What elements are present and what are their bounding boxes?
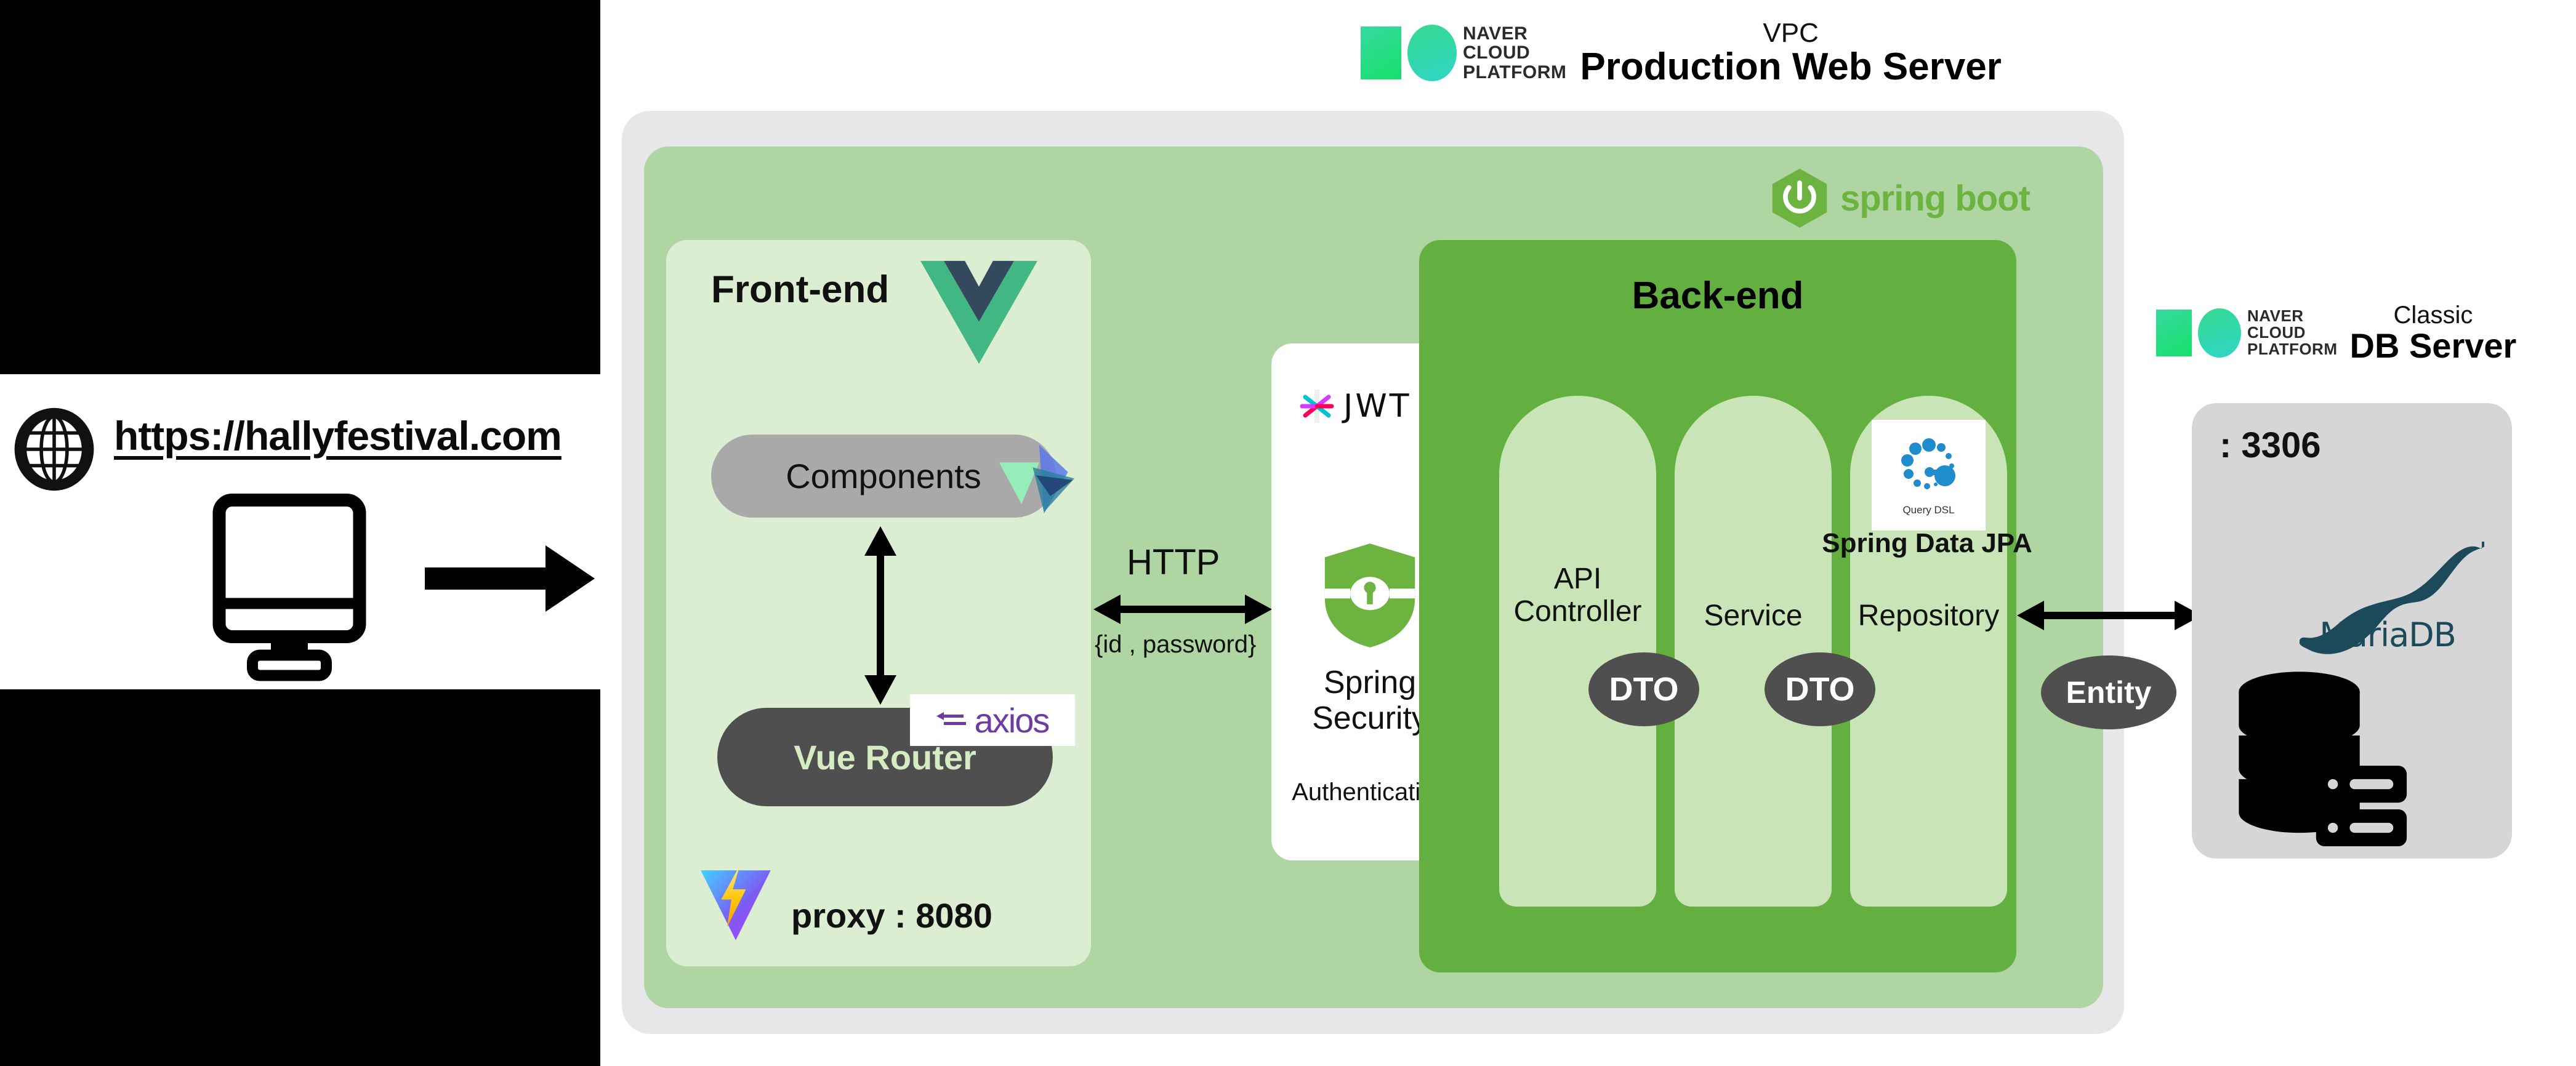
naver-cloud-platform-logo-db: NAVER CLOUD PLATFORM [2156,308,2338,358]
web-server-kind: VPC [1763,20,1818,47]
db-server-title: DB Server [2350,328,2517,363]
http-bidirectional-arrow-icon [1093,585,1272,634]
querydsl-caption: Query DSL [1902,504,1954,516]
db-server-header: NAVER CLOUD PLATFORM Classic DB Server [2156,303,2516,363]
frontend-title: Front-end [711,268,889,311]
ncp-oval-icon [1407,25,1457,81]
components-label: Components [786,456,981,496]
dto-badge-controller-service: DTO [1588,652,1699,726]
vite-logo [699,862,773,942]
ncp-oval-icon [2198,308,2241,358]
ncp-brand-cloud: CLOUD [1463,43,1566,62]
ncp-brand-platform: PLATFORM [2247,341,2338,358]
querydsl-logo: Query DSL [1872,420,1986,531]
ncp-brand-platform: PLATFORM [1463,63,1566,82]
entity-label: Entity [2066,675,2152,710]
api-controller-label: API Controller [1499,563,1656,628]
web-server-header: NAVER CLOUD PLATFORM VPC Production Web … [1361,20,2002,86]
querydsl-mark-icon [1895,434,1963,502]
entity-bidirectional-arrow-icon [2017,591,2202,640]
entity-badge: Entity [2041,655,2176,729]
vuetify-logo [994,440,1074,520]
mariadb-label: MariaDB [2289,615,2486,654]
ncp-brand-naver: NAVER [1463,24,1566,43]
http-label: HTTP [1127,542,1220,583]
dto-label: DTO [1609,670,1678,708]
http-payload-label: {id , password} [1095,631,1256,659]
dto-badge-service-repository: DTO [1765,652,1875,726]
spring-boot-icon [1770,167,1829,229]
backend-title: Back-end [1419,274,2016,318]
service-column [1675,396,1832,907]
repository-label: Repository [1850,600,2007,633]
architecture-diagram: https://hallyfestival.com NAVER CLOUD PL… [0,0,2576,1066]
db-server-kind: Classic [2393,303,2473,328]
ncp-brand-naver: NAVER [2247,308,2338,324]
jwt-logo: JWT [1298,385,1439,428]
axios-logo: axios [910,694,1075,746]
vue-logo [920,258,1037,366]
db-port-label: : 3306 [2220,425,2320,466]
components-router-arrow-icon [856,526,905,705]
globe-icon [11,406,97,492]
shield-lock-icon [1321,542,1419,649]
ncp-brand-cloud: CLOUD [2247,324,2338,341]
api-controller-label-line1: API [1499,563,1656,596]
naver-cloud-platform-logo: NAVER CLOUD PLATFORM [1361,24,1566,82]
spring-boot-label: spring boot [1840,178,2030,219]
site-url[interactable]: https://hallyfestival.com [114,412,561,459]
axios-mark-icon [936,710,968,731]
api-controller-column [1499,396,1656,907]
right-arrow-icon [425,542,597,615]
proxy-label: proxy : 8080 [791,896,992,936]
dto-label: DTO [1785,670,1854,708]
web-server-title: Production Web Server [1580,47,2001,86]
axios-label: axios [975,700,1049,740]
ncp-square-icon [2156,310,2192,356]
spring-boot-badge: spring boot [1770,167,2030,229]
service-label: Service [1675,600,1832,633]
api-controller-label-line2: Controller [1499,596,1656,628]
spring-data-jpa-label: Spring Data JPA [1804,528,2050,559]
database-stack-icon [2229,662,2413,846]
monitor-icon [197,492,382,683]
ncp-square-icon [1361,26,1401,79]
jwt-label: JWT [1343,388,1412,425]
jwt-mark-icon [1298,387,1336,425]
